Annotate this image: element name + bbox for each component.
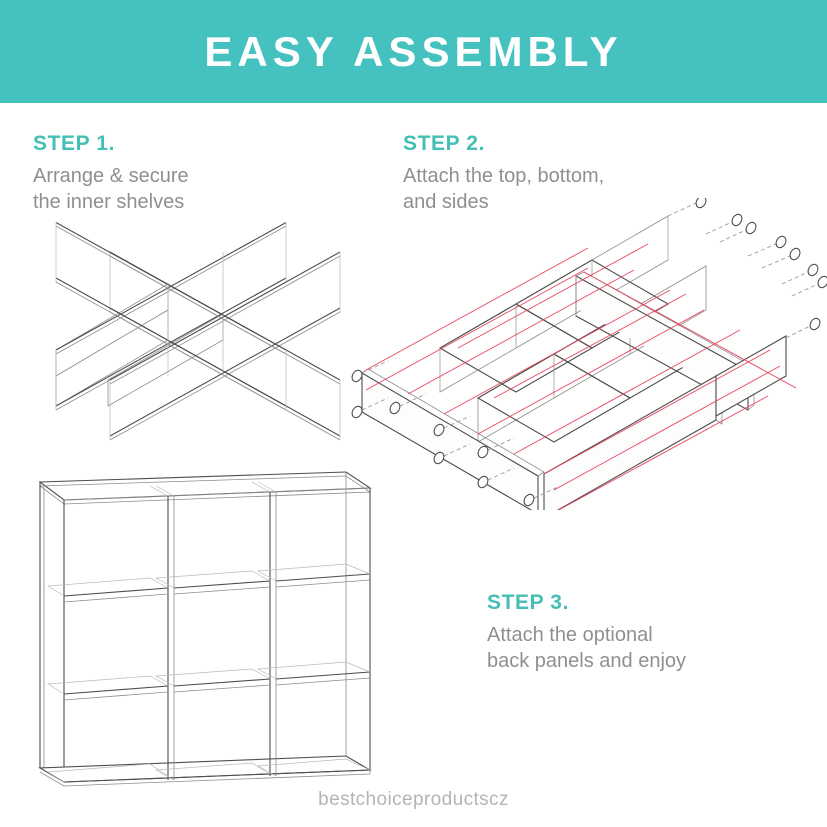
- cube-shelf-body: [40, 472, 370, 786]
- finished-cube-shelf-diagram: [28, 460, 388, 808]
- header-banner: EASY ASSEMBLY: [0, 0, 827, 103]
- step-3-description: Attach the optional back panels and enjo…: [487, 622, 807, 674]
- assembly-instruction-page: EASY ASSEMBLY STEP 1. Arrange & secure t…: [0, 0, 827, 827]
- step-1-text-block: STEP 1. Arrange & secure the inner shelv…: [33, 133, 363, 215]
- exploded-frame-diagram: [348, 198, 827, 510]
- brand-watermark: bestchoiceproductscz: [0, 789, 827, 811]
- step-3-heading: STEP 3.: [487, 592, 807, 613]
- step-1-description: Arrange & secure the inner shelves: [33, 163, 363, 215]
- lattice-panels: [56, 223, 340, 441]
- step-2-heading: STEP 2.: [403, 133, 763, 154]
- step-1-heading: STEP 1.: [33, 133, 363, 154]
- right-end-panel: [716, 336, 786, 416]
- step-3-text-block: STEP 3. Attach the optional back panels …: [487, 592, 807, 674]
- inner-shelf-lattice-diagram: [48, 222, 348, 442]
- page-title: EASY ASSEMBLY: [204, 31, 622, 73]
